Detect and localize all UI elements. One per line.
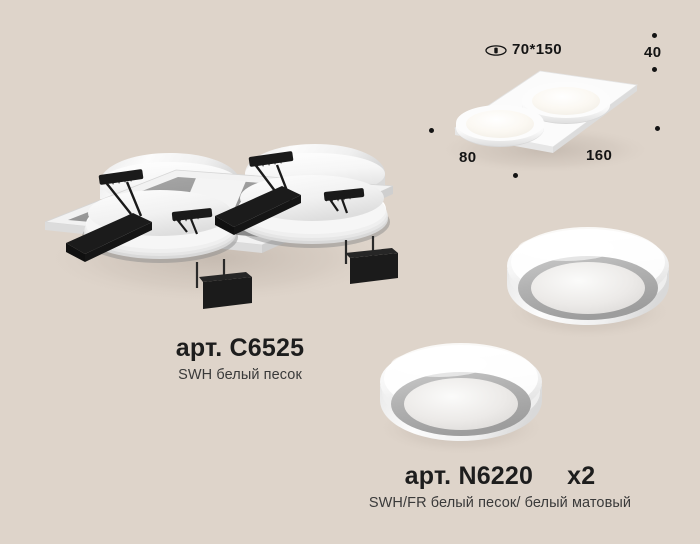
dim-dot-width-left xyxy=(429,128,434,133)
dim-dot-height-top xyxy=(652,33,657,38)
dim-length: 160 xyxy=(586,147,612,164)
label-n6220-finish: SWH/FR белый песок/ белый матовый xyxy=(340,496,660,511)
label-n6220-quantity: x2 xyxy=(567,462,595,490)
dim-dot-right-lower xyxy=(655,126,660,131)
label-n6220-article: арт. N6220 xyxy=(405,462,533,490)
dim-dot-bottom-center xyxy=(513,173,518,178)
product-composition: 70*150 40 80 160 арт. C6525 SWH белый пе… xyxy=(0,0,700,544)
label-n6220-line: арт. N6220x2 xyxy=(340,464,660,489)
label-c6525-article: арт. C6525 xyxy=(90,336,390,361)
dim-cutout-size: 70*150 xyxy=(512,41,562,58)
label-c6525-finish: SWH белый песок xyxy=(90,368,390,383)
label-product-n6220: арт. N6220x2 SWH/FR белый песок/ белый м… xyxy=(340,464,660,511)
label-product-c6525: арт. C6525 SWH белый песок xyxy=(90,336,390,383)
dim-height: 40 xyxy=(644,44,662,61)
dim-width: 80 xyxy=(459,149,477,166)
dim-dot-height-bottom xyxy=(652,67,657,72)
cutout-ellipse-icon xyxy=(485,45,507,56)
